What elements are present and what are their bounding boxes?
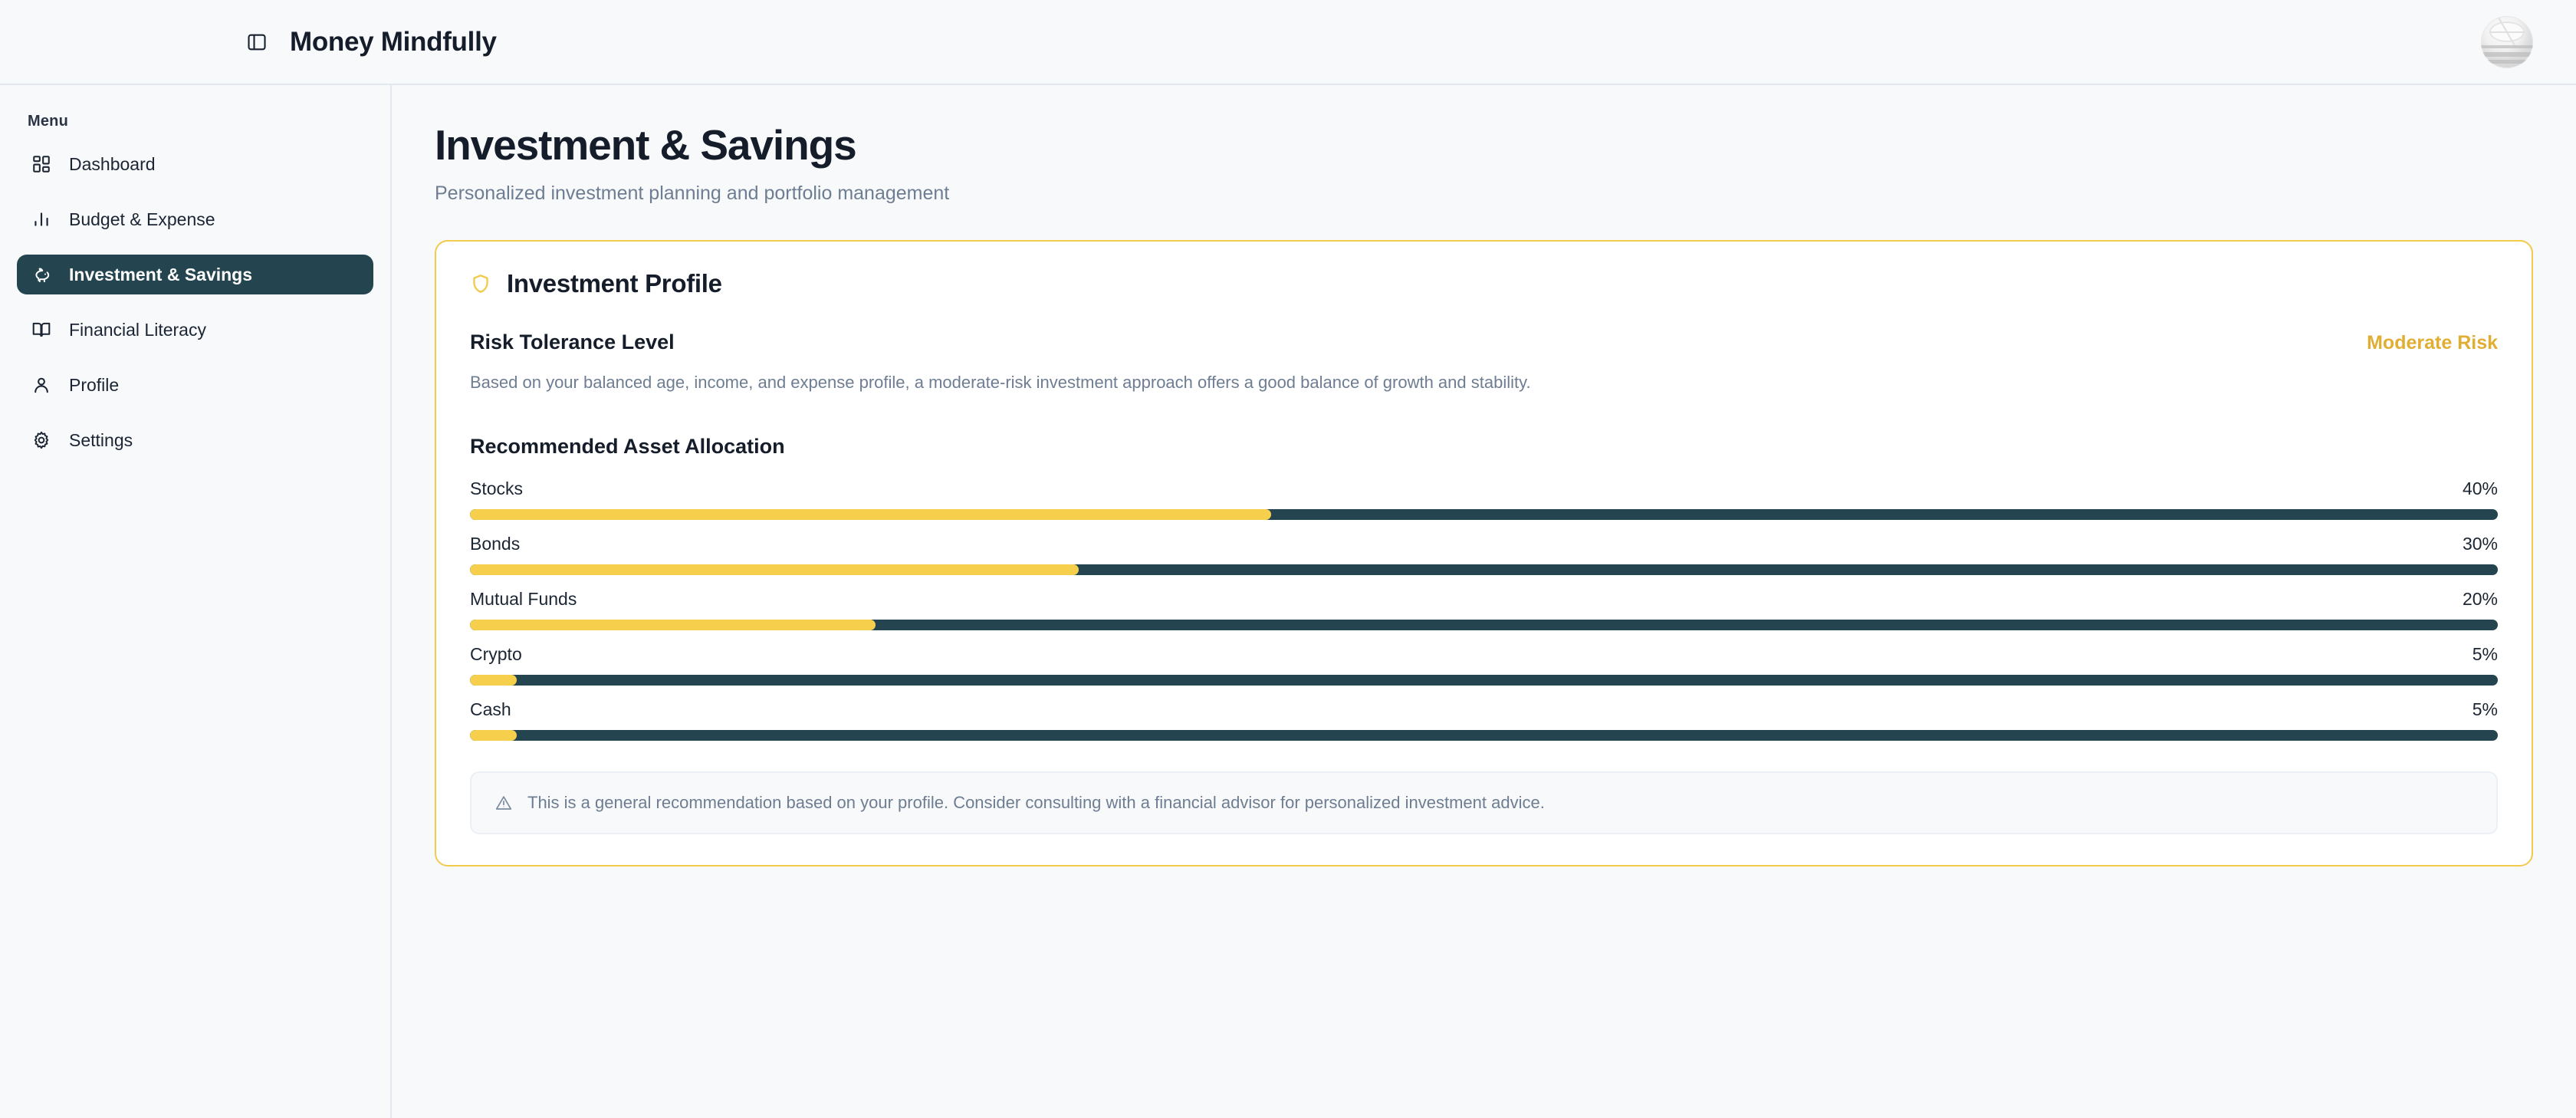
allocation-progress-fill — [470, 620, 876, 630]
allocation-row-head: Cash 5% — [470, 699, 2498, 720]
allocation-progress-fill — [470, 509, 1271, 520]
header-left-group: Money Mindfully — [0, 27, 497, 58]
warning-triangle-icon — [493, 792, 514, 814]
list-item: Bonds 30% — [470, 534, 2498, 575]
risk-description: Based on your balanced age, income, and … — [470, 370, 2498, 395]
card-header: Investment Profile — [470, 269, 2498, 298]
allocation-row-head: Crypto 5% — [470, 644, 2498, 665]
avatar-band — [2481, 60, 2533, 64]
body-row: Menu Dashboard — [0, 85, 2576, 1118]
sidebar-item-budget-expense[interactable]: Budget & Expense — [17, 199, 373, 239]
allocation-row-head: Stocks 40% — [470, 478, 2498, 499]
sidebar-item-dashboard[interactable]: Dashboard — [17, 144, 373, 184]
sidebar-item-label: Investment & Savings — [69, 265, 252, 285]
allocation-title: Recommended Asset Allocation — [470, 435, 2498, 459]
risk-tolerance-row: Risk Tolerance Level Moderate Risk — [470, 330, 2498, 354]
main-content: Investment & Savings Personalized invest… — [392, 85, 2576, 1118]
bar-chart-icon — [31, 209, 52, 230]
allocation-row-head: Mutual Funds 20% — [470, 589, 2498, 610]
risk-tolerance-title: Risk Tolerance Level — [470, 330, 675, 354]
menu-label: Menu — [17, 107, 373, 144]
allocation-label: Cash — [470, 699, 511, 720]
allocation-row-head: Bonds 30% — [470, 534, 2498, 554]
card-title: Investment Profile — [507, 269, 722, 298]
page-title: Investment & Savings — [435, 120, 2533, 169]
avatar-band — [2481, 45, 2533, 49]
allocation-value: 5% — [2472, 644, 2498, 665]
list-item: Stocks 40% — [470, 478, 2498, 520]
allocation-value: 20% — [2463, 589, 2498, 610]
allocation-progress-track — [470, 730, 2498, 741]
avatar-dome — [2489, 21, 2525, 42]
sidebar-item-investment-savings[interactable]: Investment & Savings — [17, 255, 373, 294]
book-open-icon — [31, 319, 52, 340]
panel-left-icon[interactable] — [244, 29, 270, 55]
allocation-label: Mutual Funds — [470, 589, 577, 610]
allocation-progress-track — [470, 675, 2498, 686]
sidebar-item-profile[interactable]: Profile — [17, 365, 373, 405]
allocation-label: Crypto — [470, 644, 522, 665]
piggy-bank-icon — [31, 264, 52, 285]
allocation-value: 30% — [2463, 534, 2498, 554]
sidebar-item-label: Dashboard — [69, 154, 156, 175]
allocation-progress-fill — [470, 675, 517, 686]
sidebar-item-settings[interactable]: Settings — [17, 420, 373, 460]
investment-profile-card: Investment Profile Risk Tolerance Level … — [435, 240, 2533, 866]
sidebar-item-label: Settings — [69, 430, 133, 451]
allocation-progress-fill — [470, 730, 517, 741]
allocation-value: 40% — [2463, 478, 2498, 499]
allocation-value: 5% — [2472, 699, 2498, 720]
allocation-label: Stocks — [470, 478, 523, 499]
allocation-progress-track — [470, 509, 2498, 520]
list-item: Crypto 5% — [470, 644, 2498, 686]
user-icon — [31, 374, 52, 396]
grid-icon — [31, 153, 52, 175]
allocation-progress-fill — [470, 564, 1079, 575]
app-root: Money Mindfully Menu — [0, 0, 2576, 1118]
sidebar-item-financial-literacy[interactable]: Financial Literacy — [17, 310, 373, 350]
gear-icon — [31, 429, 52, 451]
sidebar-item-label: Budget & Expense — [69, 209, 215, 230]
status-badge: Moderate Risk — [2367, 332, 2498, 354]
sidebar-item-label: Financial Literacy — [69, 320, 206, 340]
app-title: Money Mindfully — [290, 27, 497, 58]
avatar[interactable] — [2481, 16, 2533, 68]
top-header: Money Mindfully — [0, 0, 2576, 85]
page-subtitle: Personalized investment planning and por… — [435, 182, 2533, 205]
sidebar: Menu Dashboard — [0, 85, 392, 1118]
allocation-label: Bonds — [470, 534, 520, 554]
list-item: Mutual Funds 20% — [470, 589, 2498, 630]
allocation-list: Stocks 40% Bonds 30% — [470, 478, 2498, 741]
sidebar-item-label: Profile — [69, 375, 119, 396]
avatar-band — [2481, 52, 2533, 56]
shield-icon — [470, 273, 491, 294]
allocation-progress-track — [470, 564, 2498, 575]
allocation-progress-track — [470, 620, 2498, 630]
disclaimer-text: This is a general recommendation based o… — [527, 793, 1545, 813]
disclaimer-note: This is a general recommendation based o… — [470, 771, 2498, 834]
list-item: Cash 5% — [470, 699, 2498, 741]
